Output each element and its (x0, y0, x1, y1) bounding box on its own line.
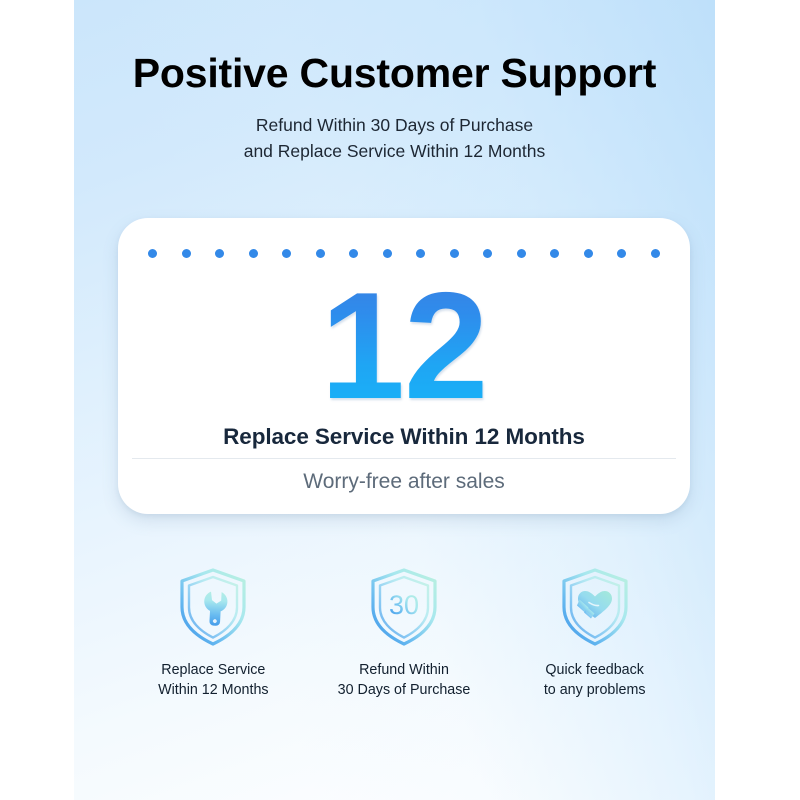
card-dot (249, 249, 258, 258)
warranty-months-number: 12 (118, 270, 690, 422)
feature-label-line-1: Replace Service (158, 660, 268, 680)
poster-canvas: Positive Customer Support Refund Within … (0, 0, 800, 800)
feature-replace-service: Replace Service Within 12 Months (118, 566, 309, 701)
feature-label-line-2: Within 12 Months (158, 680, 268, 700)
card-headline: Replace Service Within 12 Months (118, 424, 690, 450)
header: Positive Customer Support Refund Within … (74, 0, 715, 164)
feature-quick-feedback: Quick feedback to any problems (499, 566, 690, 701)
card-dot (483, 249, 492, 258)
card-dot (617, 249, 626, 258)
card-dot-row (148, 249, 660, 258)
card-dot (450, 249, 459, 258)
shield-handshake-heart-icon (558, 566, 632, 648)
card-divider (132, 458, 676, 459)
page-subtitle-line-2: and Replace Service Within 12 Months (74, 139, 715, 164)
card-dot (215, 249, 224, 258)
shield-badge-number: 30 (389, 590, 419, 620)
card-dot (282, 249, 291, 258)
page-subtitle: Refund Within 30 Days of Purchase and Re… (74, 113, 715, 164)
feature-label-line-2: 30 Days of Purchase (338, 680, 471, 700)
card-dot (182, 249, 191, 258)
feature-label: Refund Within 30 Days of Purchase (338, 660, 471, 701)
card-dot (584, 249, 593, 258)
feature-label-line-1: Quick feedback (544, 660, 646, 680)
shield-30-days-icon: 30 (367, 566, 441, 648)
page-title: Positive Customer Support (74, 52, 715, 95)
card-dot (651, 249, 660, 258)
card-dot (148, 249, 157, 258)
card-dot (316, 249, 325, 258)
card-dot (416, 249, 425, 258)
card-dot (383, 249, 392, 258)
card-dot (517, 249, 526, 258)
feature-label: Quick feedback to any problems (544, 660, 646, 701)
feature-label-line-2: to any problems (544, 680, 646, 700)
page-subtitle-line-1: Refund Within 30 Days of Purchase (74, 113, 715, 138)
card-dot (349, 249, 358, 258)
feature-label-line-1: Refund Within (338, 660, 471, 680)
feature-label: Replace Service Within 12 Months (158, 660, 268, 701)
card-subtext: Worry-free after sales (118, 470, 690, 494)
shield-wrench-icon (176, 566, 250, 648)
feature-row: Replace Service Within 12 Months 30 (118, 566, 690, 701)
warranty-card: 12 Replace Service Within 12 Months Worr… (118, 218, 690, 514)
feature-refund-30-days: 30 Refund Within 30 Days of Purchase (309, 566, 500, 701)
card-dot (550, 249, 559, 258)
